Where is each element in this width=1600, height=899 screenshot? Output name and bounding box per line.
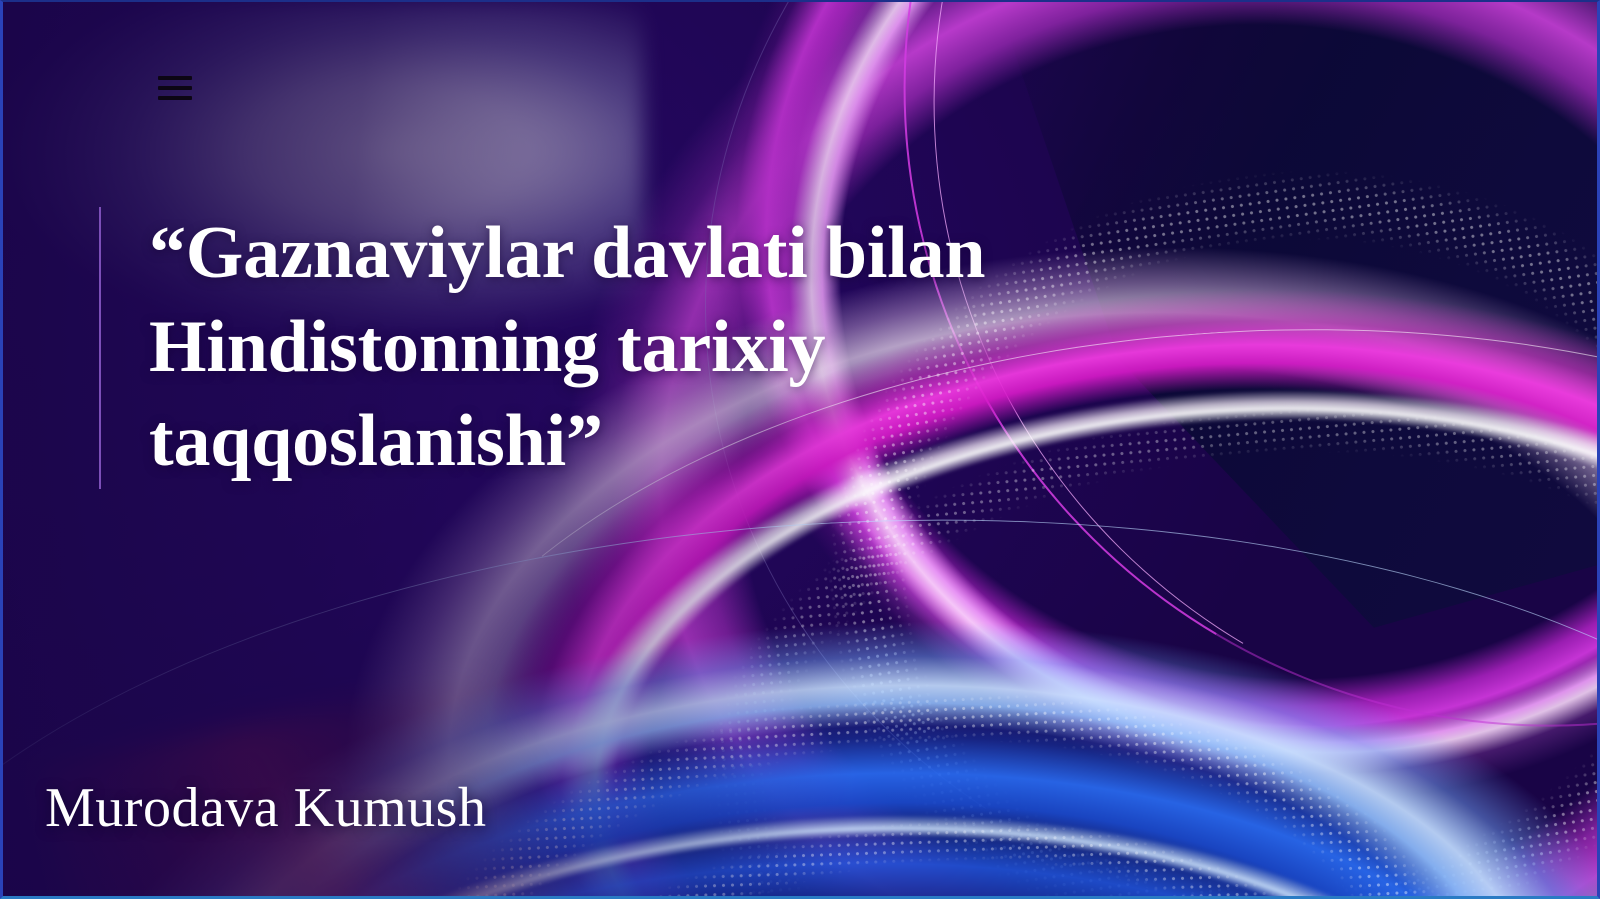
title-block: “Gaznaviylar davlati bilan Hindistonning… <box>99 207 1099 489</box>
hamburger-menu-icon[interactable] <box>158 72 194 104</box>
presentation-slide: “Gaznaviylar davlati bilan Hindistonning… <box>0 0 1600 899</box>
hamburger-bar-middle <box>158 86 192 90</box>
slide-title: “Gaznaviylar davlati bilan Hindistonning… <box>149 207 1099 489</box>
author-name: Murodava Kumush <box>45 780 486 836</box>
hamburger-bar-top <box>158 76 192 80</box>
hamburger-bar-bottom <box>158 96 192 100</box>
